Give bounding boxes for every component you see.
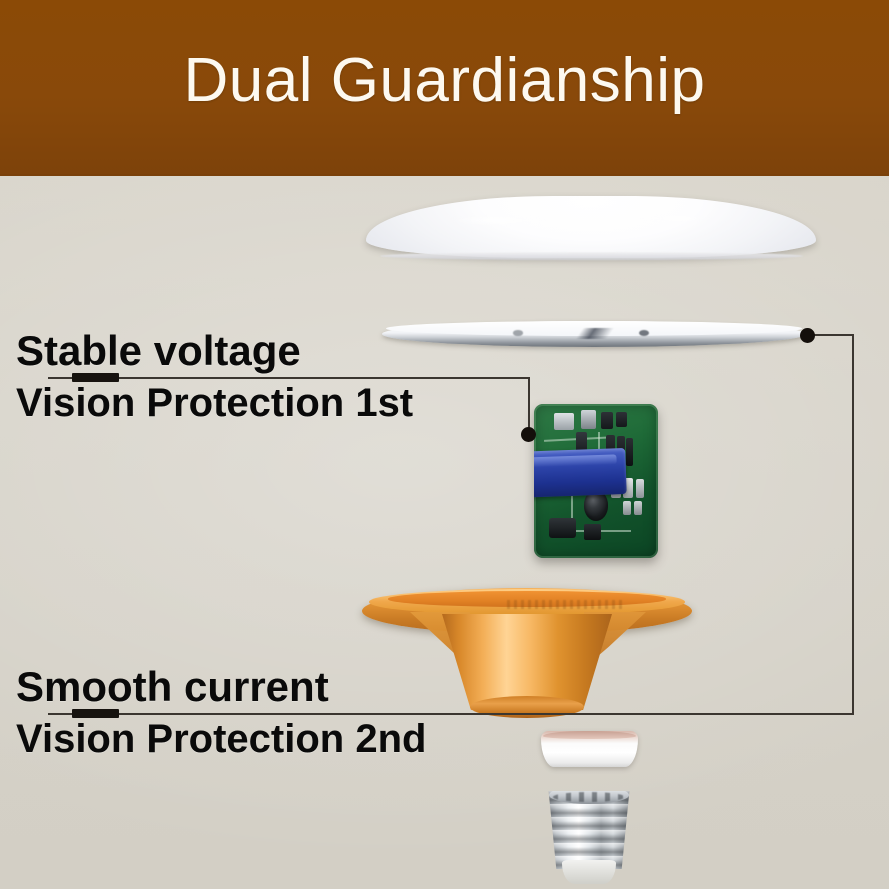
led-disc-center-marking [575, 328, 617, 339]
header-banner: Dual Guardianship [0, 0, 889, 176]
pcb-resistor [636, 479, 645, 497]
led-disc-hole-right [639, 330, 649, 336]
led-disc-hole-left [513, 330, 522, 335]
callout-smooth-current-line2: Vision Protection 2nd [16, 719, 426, 759]
insulator-collar-band [543, 731, 636, 739]
diffuser-lip [380, 252, 803, 260]
callout-1-accent-dash [72, 373, 119, 382]
pcb-component [616, 412, 627, 427]
pcb-component [549, 518, 576, 538]
diffuser-highlight-left [447, 216, 546, 225]
lamp-base-contact-tip [562, 860, 616, 884]
pcb-component [554, 413, 574, 430]
led-board-disc-part [382, 321, 806, 347]
pcb-component [626, 438, 633, 466]
callout-2-target-dot [800, 328, 815, 343]
heatsink-printed-text [507, 600, 626, 609]
diffuser-highlight-right [641, 215, 713, 222]
insulator-collar-part [541, 731, 638, 767]
page-title: Dual Guardianship [0, 48, 889, 113]
pcb-resistor [623, 501, 630, 515]
driver-pcb-part [534, 404, 658, 558]
product-infographic-poster: Dual Guardianship [0, 0, 889, 889]
lamp-base-notches [553, 792, 625, 802]
callout-stable-voltage-line2: Vision Protection 1st [16, 383, 413, 423]
pcb-component [601, 412, 613, 429]
product-stage [0, 176, 889, 889]
pcb-blue-transformer [534, 448, 627, 498]
lamp-base-e27-part [546, 791, 632, 869]
pcb-component [584, 524, 601, 539]
callout-2-leader-vertical [852, 336, 854, 715]
callout-smooth-current-line1: Smooth current [16, 666, 329, 708]
heatsink-body-part [362, 588, 692, 710]
pcb-component [581, 410, 596, 428]
pcb-resistor [634, 501, 641, 515]
callout-2-accent-dash [72, 709, 119, 718]
callout-1-target-dot [521, 427, 536, 442]
diffuser-cover-part [366, 196, 816, 258]
callout-stable-voltage-line1: Stable voltage [16, 330, 301, 372]
callout-2-leader-horizontal [48, 713, 854, 715]
callout-1-leader-horizontal [48, 377, 530, 379]
